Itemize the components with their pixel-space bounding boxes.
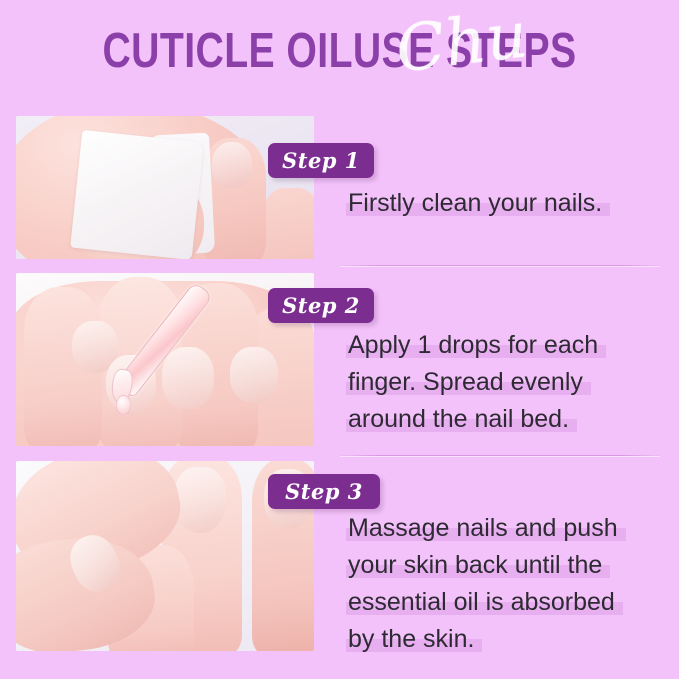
step-3-badge-label: Step 3 bbox=[285, 479, 363, 504]
finger-shape bbox=[260, 188, 314, 259]
step-1-photo bbox=[16, 116, 314, 259]
step-2-line-2: finger. Spread evenly bbox=[348, 365, 668, 400]
fingernail-shape bbox=[174, 467, 226, 533]
step-divider-1 bbox=[340, 265, 660, 266]
header: CUTICLE OILUSE STEPS Chu bbox=[0, 22, 679, 100]
step-3-text: Massage nails and push your skin back un… bbox=[348, 511, 668, 659]
step-2-badge-label: Step 2 bbox=[282, 293, 360, 318]
oil-drop-shape bbox=[116, 395, 131, 415]
step-block-3: Step 3 Massage nails and push your skin … bbox=[0, 461, 679, 661]
step-3-line-3: essential oil is absorbed bbox=[348, 585, 668, 620]
step-3-line-4: by the skin. bbox=[348, 622, 668, 657]
step-1-badge: Step 1 bbox=[268, 143, 374, 178]
step-block-2: Step 2 Apply 1 drops for each finger. Sp… bbox=[0, 273, 679, 455]
step-3-line-2: your skin back until the bbox=[348, 548, 668, 583]
step-3-badge: Step 3 bbox=[268, 474, 380, 509]
step-2-text: Apply 1 drops for each finger. Spread ev… bbox=[348, 328, 668, 439]
step-1-text: Firstly clean your nails. bbox=[348, 186, 668, 223]
fingernail-shape bbox=[212, 142, 252, 188]
page-title: CUTICLE OILUSE STEPS bbox=[68, 22, 611, 80]
step-2-line-1: Apply 1 drops for each bbox=[348, 328, 668, 363]
step-2-badge: Step 2 bbox=[268, 288, 374, 323]
step-block-1: Step 1 Firstly clean your nails. bbox=[0, 116, 679, 266]
step-divider-2 bbox=[340, 455, 660, 456]
step-2-line-3: around the nail bed. bbox=[348, 402, 668, 437]
step-1-photo-canvas bbox=[16, 116, 314, 259]
step-3-line-1: Massage nails and push bbox=[348, 511, 668, 546]
step-1-badge-label: Step 1 bbox=[282, 148, 360, 173]
cuticle-oil-instruction-graphic: { "theme": { "background_color": "#F4C2F… bbox=[0, 0, 679, 679]
step-1-line-1: Firstly clean your nails. bbox=[348, 186, 668, 221]
fingernail-shape bbox=[230, 347, 278, 403]
fingernail-shape bbox=[162, 347, 214, 409]
cotton-pad-shape bbox=[70, 130, 204, 259]
